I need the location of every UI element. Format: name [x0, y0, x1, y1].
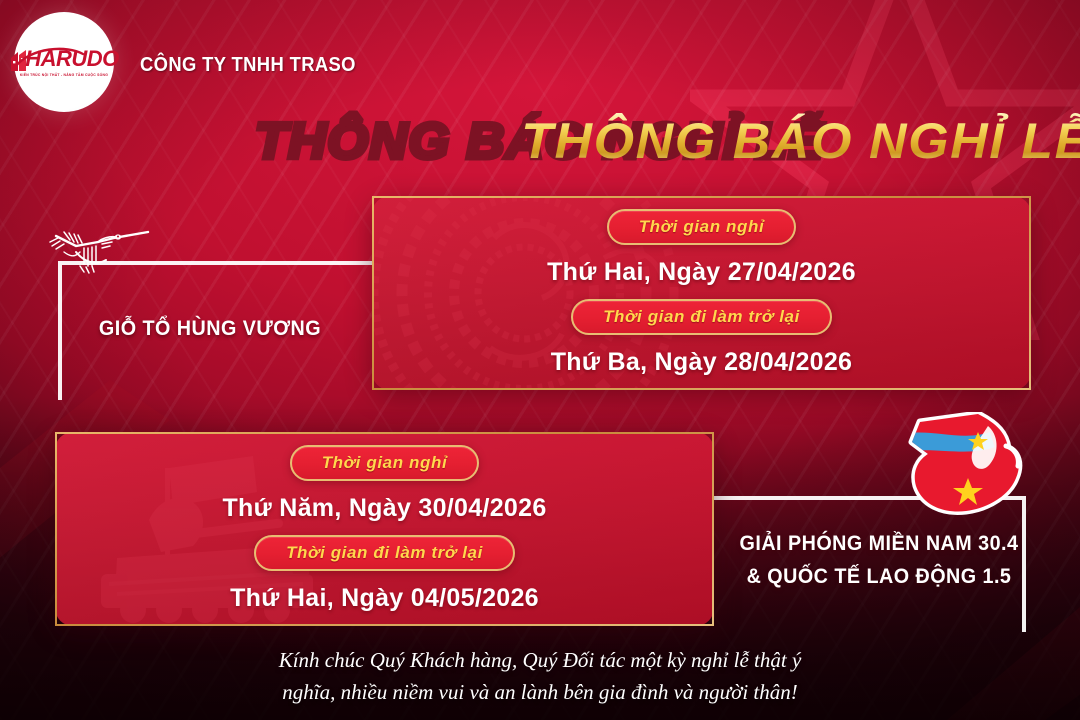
holiday-announcement-poster: HARUDO KIẾN TRÚC NỘI THẤT - NÂNG TẦM CUỘ… [0, 0, 1080, 720]
holiday-2-return-label: Thời gian đi làm trở lại [254, 535, 515, 571]
footer-line-2: nghĩa, nhiều niềm vui và an lành bên gia… [0, 677, 1080, 709]
holiday-1-card: Thời gian nghỉ Thứ Hai, Ngày 27/04/2026 … [372, 196, 1031, 390]
footer-line-1: Kính chúc Quý Khách hàng, Quý Đối tác mộ… [0, 645, 1080, 677]
holiday-1-off-date: Thứ Hai, Ngày 27/04/2026 [547, 258, 856, 287]
holiday-1-return-label: Thời gian đi làm trở lại [571, 299, 832, 335]
logo-badge: HARUDO KIẾN TRÚC NỘI THẤT - NÂNG TẦM CUỘ… [14, 12, 114, 112]
holiday-2-card: Thời gian nghỉ Thứ Năm, Ngày 30/04/2026 … [55, 432, 714, 626]
holiday-2-label-line1: GIẢI PHÓNG MIỀN NAM 30.4 [724, 528, 1034, 561]
logo-swoosh [13, 45, 85, 71]
page-title-fill: THÔNG BÁO NGHỈ LỄ [245, 112, 1080, 170]
holiday-1-off-label: Thời gian nghỉ [607, 209, 797, 245]
holiday-2-off-label: Thời gian nghỉ [290, 445, 480, 481]
holiday-1-return-date: Thứ Ba, Ngày 28/04/2026 [551, 348, 853, 377]
page-title: THÔNG BÁO NGHỈ LỄ THÔNG BÁO NGHỈ LỄ [0, 112, 1080, 170]
holiday-2-label: GIẢI PHÓNG MIỀN NAM 30.4 & QUỐC TẾ LAO Đ… [724, 528, 1034, 593]
logo-tagline: KIẾN TRÚC NỘI THẤT - NÂNG TẦM CUỘC SỐNG [20, 73, 108, 77]
company-name: CÔNG TY TNHH TRASO [140, 54, 356, 77]
logo-mark: HARUDO [9, 48, 119, 70]
dove-flag-icon [902, 412, 1026, 520]
footer-message: Kính chúc Quý Khách hàng, Quý Đối tác mộ… [0, 645, 1080, 709]
holiday-2-label-line2: & QUỐC TẾ LAO ĐỘNG 1.5 [724, 561, 1034, 594]
holiday-1-label: GIỖ TỔ HÙNG VƯƠNG [69, 317, 351, 341]
holiday-2-off-date: Thứ Năm, Ngày 30/04/2026 [222, 494, 546, 523]
holiday-2-return-date: Thứ Hai, Ngày 04/05/2026 [230, 584, 539, 613]
lac-bird-icon [40, 222, 152, 280]
